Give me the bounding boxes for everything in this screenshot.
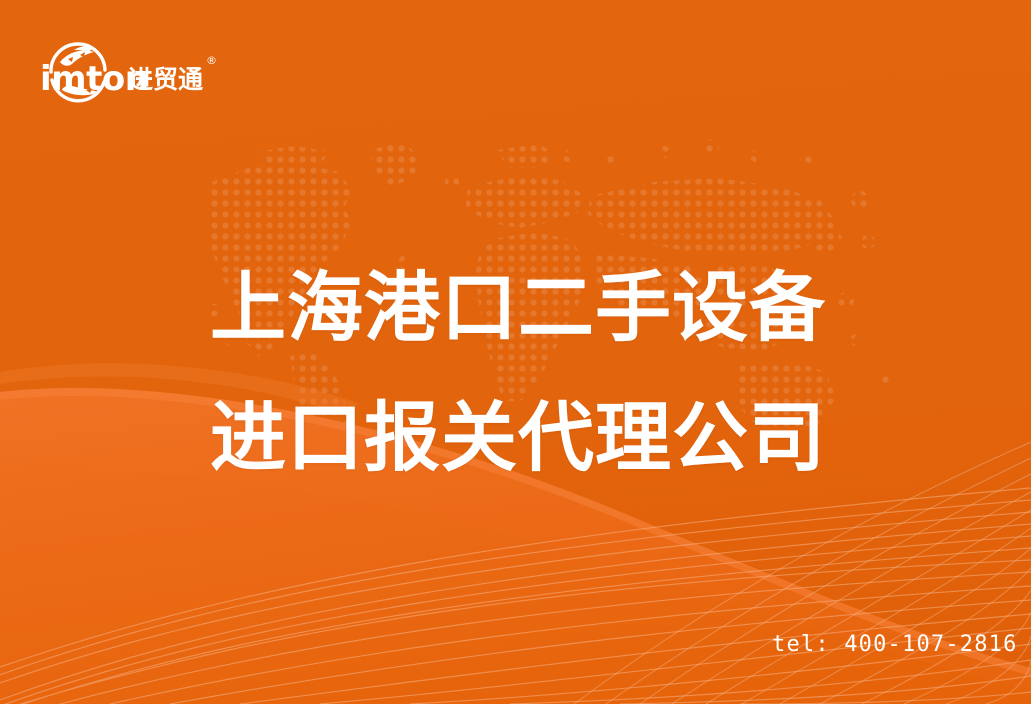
imton-logo[interactable]: imton 进贸通 ®: [38, 28, 218, 104]
headline-line-1: 上海港口二手设备: [210, 243, 850, 373]
registered-trademark-icon: ®: [206, 54, 217, 67]
headline-line-2: 进口报关代理公司: [210, 373, 850, 503]
promo-banner: imton 进贸通 ® 上海港口二手设备 进口报关代理公司 tel: 400-1…: [0, 0, 1031, 704]
headline-block: 上海港口二手设备 进口报关代理公司: [210, 243, 850, 503]
contact-phone[interactable]: tel: 400-107-2816: [772, 632, 1018, 657]
logo-chinese-name: 进贸通: [128, 65, 203, 94]
